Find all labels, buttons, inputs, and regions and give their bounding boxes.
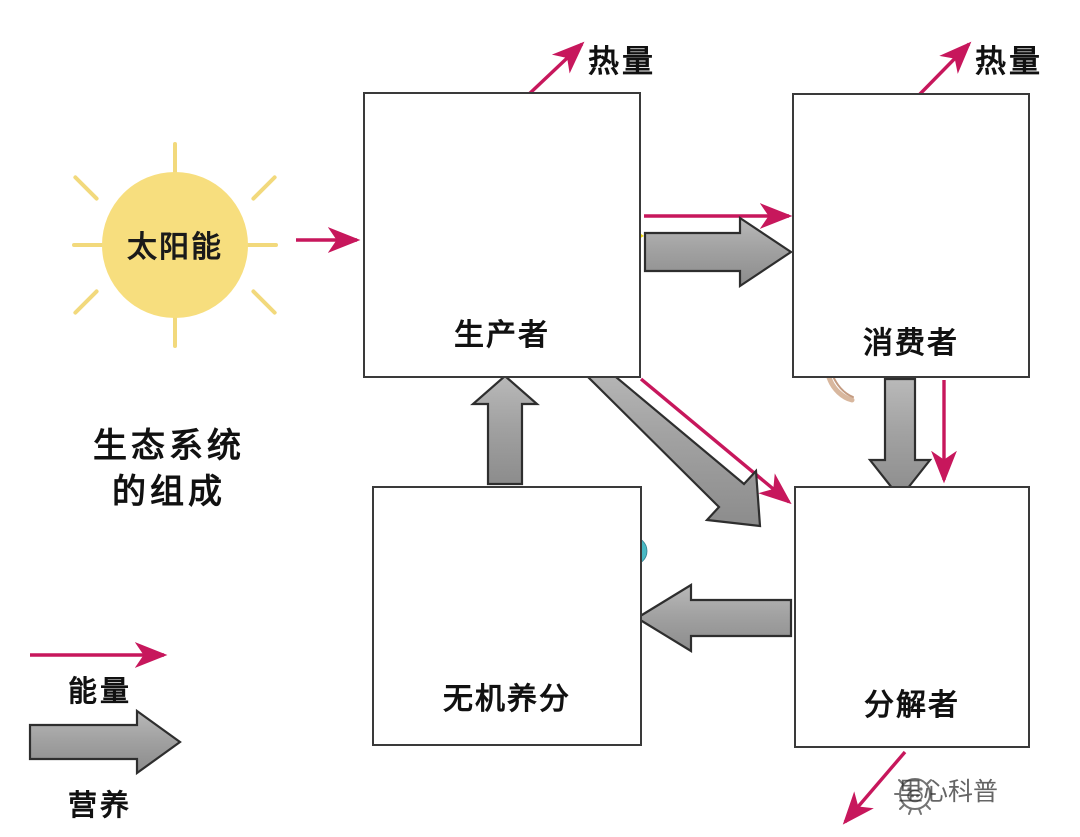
arrow-consumer-to-heat [919,44,969,95]
page-title-line2: 的组成 [38,470,300,516]
sun-ray [251,289,278,316]
arrow-nutrients-to-producer [473,376,537,484]
arrow-producer-to-heat [528,44,582,95]
page-title-line1: 生态系统 [93,426,245,466]
sun-ray [173,316,177,348]
node-producer-label: 生产者 [365,310,639,354]
page-title: 生态系统 的组成 [38,424,300,516]
arrow-producer-to-consumer-nutrient [645,218,791,286]
arrow-decomposer-to-nutrients [637,585,791,651]
sun-ray [73,175,100,202]
heat-label-producer: 热量 [588,36,656,81]
watermark-text: 里心科普 [898,772,998,808]
node-nutrients-label: 无机养分 [374,674,640,718]
watermark: 里心科普 [898,772,998,808]
arrow-decomposer-to-heat [845,752,905,822]
legend-item-nutrient: 营养 [28,686,248,806]
sun-ray [173,142,177,174]
sun-ray [251,175,278,202]
node-producer[interactable]: 生产者 [363,92,641,378]
node-decomposer-label: 分解者 [796,680,1028,724]
node-consumer[interactable]: 消费者 [792,93,1030,378]
node-inorganic-nutrients[interactable]: 无机养分 [372,486,642,746]
node-decomposer[interactable]: 分解者 [794,486,1030,748]
sun-label: 太阳能 [72,222,278,266]
arrow-consumer-to-decomposer-nutrient [870,379,930,498]
legend-item-energy: 能量 [28,640,248,686]
node-consumer-label: 消费者 [794,318,1028,362]
sun-ray [73,289,100,316]
heat-label-consumer: 热量 [975,36,1043,81]
legend: 能量 营养 [28,640,248,806]
sun-node: 太阳能 [72,142,278,348]
legend-nutrient-label: 营养 [68,782,132,824]
ecosystem-diagram: 太阳能 生态系统 的组成 热量 热量 生产者 消费者 无机养分 分解者 能量 营… [0,0,1080,837]
